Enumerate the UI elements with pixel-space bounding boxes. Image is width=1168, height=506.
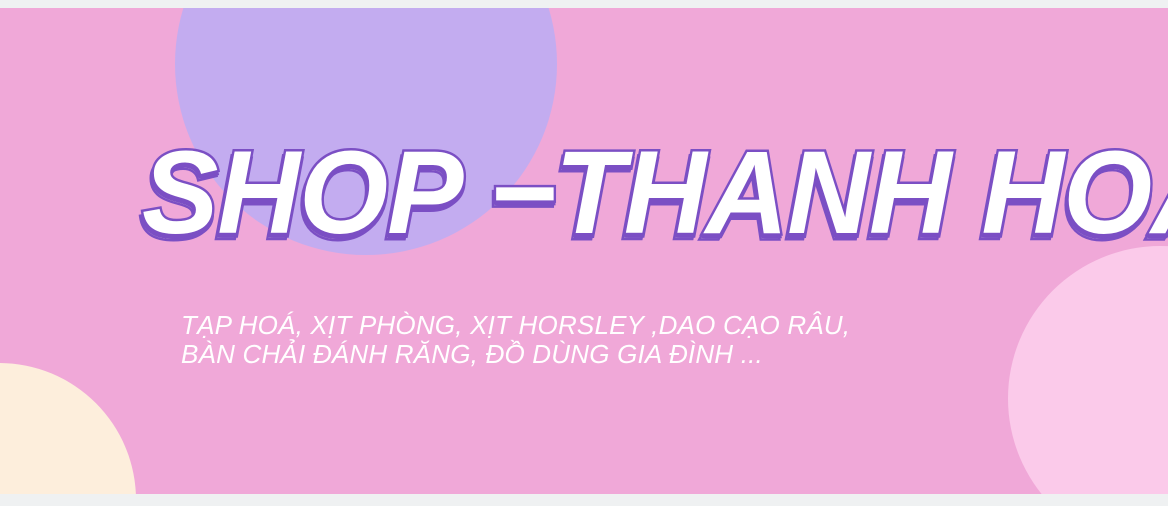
banner-background-plate: SHOP −THANH HOA SHOP −THANH HOA TẠP HOÁ,… [0, 8, 1168, 494]
shop-banner: SHOP −THANH HOA SHOP −THANH HOA TẠP HOÁ,… [0, 0, 1168, 506]
shop-subtitle: TẠP HOÁ, XỊT PHÒNG, XỊT HORSLEY ,DAO CẠO… [181, 311, 941, 369]
banner-content: SHOP −THANH HOA SHOP −THANH HOA TẠP HOÁ,… [0, 8, 1168, 494]
shop-subtitle-line-1: TẠP HOÁ, XỊT PHÒNG, XỊT HORSLEY ,DAO CẠO… [181, 311, 941, 340]
shop-title: SHOP −THANH HOA [142, 134, 1168, 252]
shop-subtitle-line-2: BÀN CHẢI ĐÁNH RĂNG, ĐỒ DÙNG GIA ĐÌNH ... [181, 340, 941, 369]
